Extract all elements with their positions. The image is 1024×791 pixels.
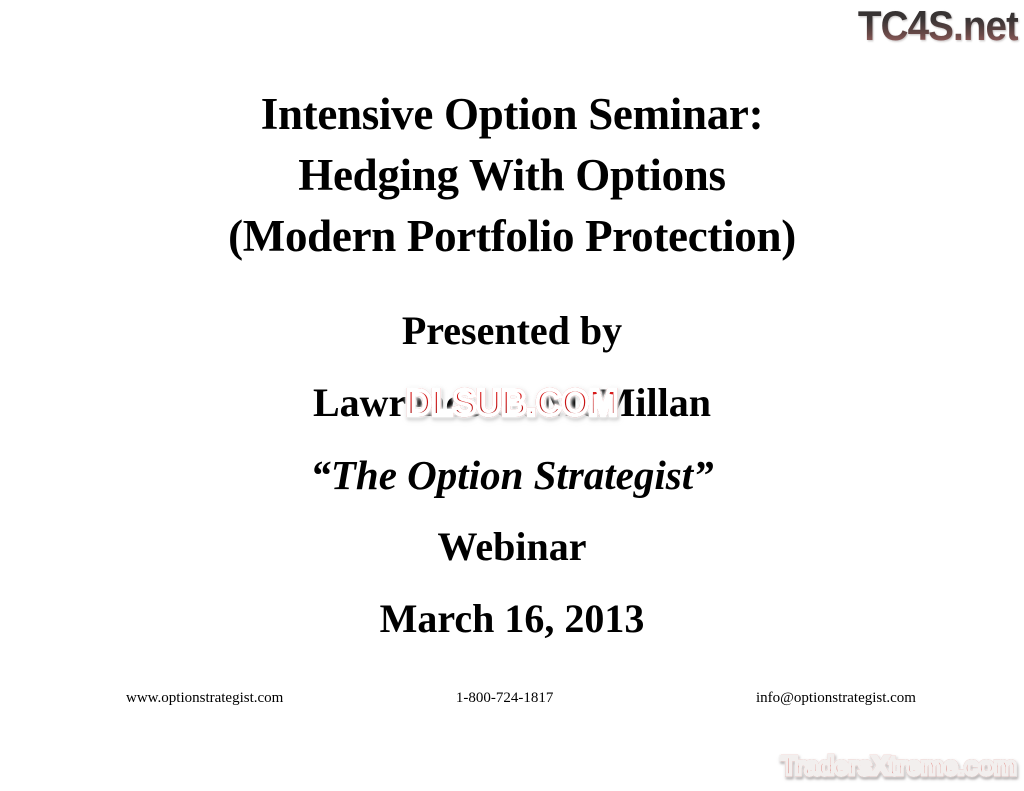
title-line-2: Hedging With Options xyxy=(0,145,1024,206)
presenter-block: Presented by Lawrence G. McMillan DLSUB.… xyxy=(0,295,1024,655)
tradersxtreme-brand-logo: TradersXtreme.com xyxy=(780,749,1016,783)
presented-by-label: Presented by xyxy=(0,295,1024,367)
title-line-3: (Modern Portfolio Protection) xyxy=(0,206,1024,267)
footer-contact-row: www.optionstrategist.com 1-800-724-1817 … xyxy=(126,688,916,708)
footer-email[interactable]: info@optionstrategist.com xyxy=(756,688,916,708)
dlsub-watermark: DLSUB.COM xyxy=(406,383,617,423)
tc4s-brand-logo: TC4S.net xyxy=(858,2,1018,50)
presenter-nickname: “The Option Strategist” xyxy=(0,439,1024,511)
presenter-name-row: Lawrence G. McMillan DLSUB.COM xyxy=(0,367,1024,439)
footer-phone[interactable]: 1-800-724-1817 xyxy=(456,688,554,708)
event-date: March 16, 2013 xyxy=(0,583,1024,655)
event-format: Webinar xyxy=(0,511,1024,583)
presentation-slide: TC4S.net Intensive Option Seminar: Hedgi… xyxy=(0,0,1024,791)
title-line-1: Intensive Option Seminar: xyxy=(0,84,1024,145)
footer-website[interactable]: www.optionstrategist.com xyxy=(126,688,283,708)
slide-title: Intensive Option Seminar: Hedging With O… xyxy=(0,84,1024,267)
